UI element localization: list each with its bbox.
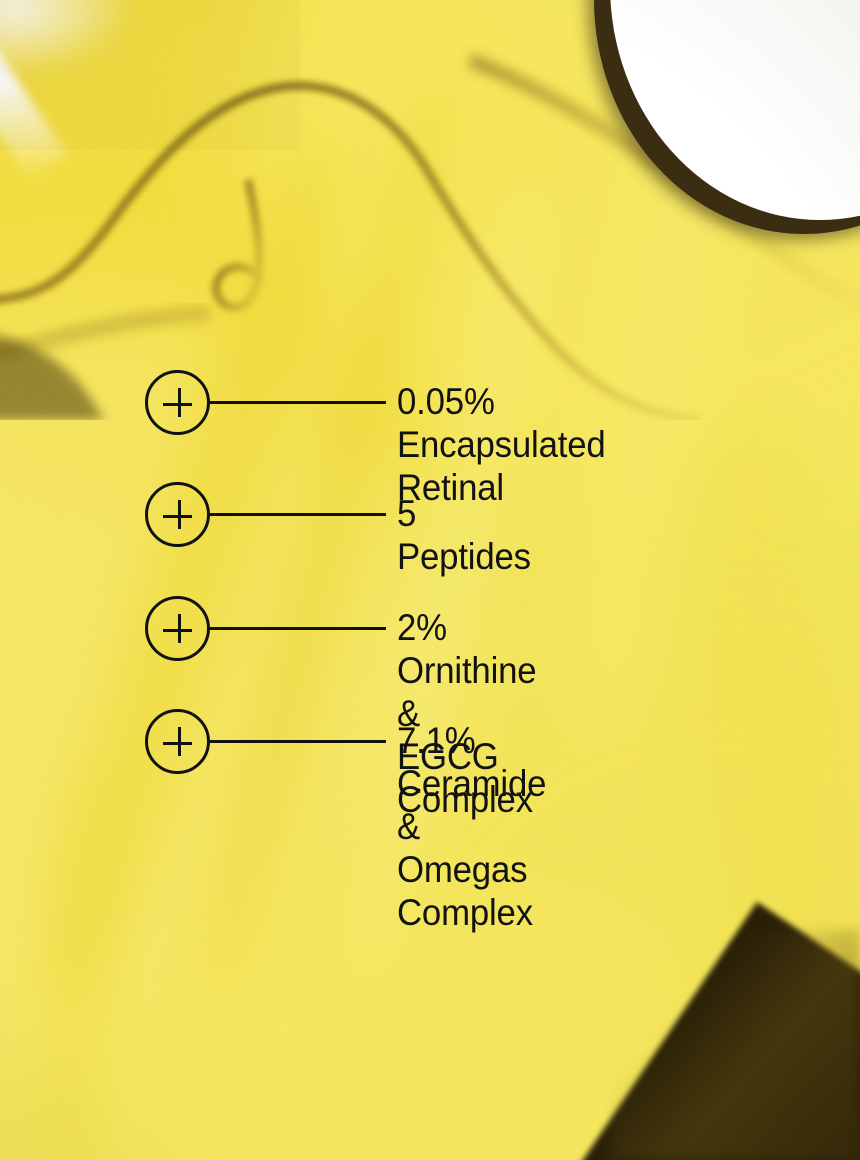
plus-in-circle-icon[interactable] bbox=[145, 482, 210, 547]
plus-icon-vertical bbox=[178, 614, 181, 643]
leader-line bbox=[210, 513, 386, 516]
ingredient-callout-list: 0.05% Encapsulated Retinal 5 Peptides 2%… bbox=[0, 0, 860, 1160]
leader-line bbox=[210, 627, 386, 630]
leader-line bbox=[210, 740, 386, 743]
callout-label: 0.05% Encapsulated Retinal bbox=[397, 380, 606, 509]
plus-in-circle-icon[interactable] bbox=[145, 596, 210, 661]
plus-icon-vertical bbox=[178, 500, 181, 529]
leader-line bbox=[210, 401, 386, 404]
callout-label: 7.1% Ceramide & Omegas Complex bbox=[397, 719, 546, 934]
plus-icon-vertical bbox=[178, 388, 181, 417]
plus-in-circle-icon[interactable] bbox=[145, 709, 210, 774]
callout-label: 5 Peptides bbox=[397, 492, 531, 578]
plus-icon-vertical bbox=[178, 727, 181, 756]
plus-in-circle-icon[interactable] bbox=[145, 370, 210, 435]
